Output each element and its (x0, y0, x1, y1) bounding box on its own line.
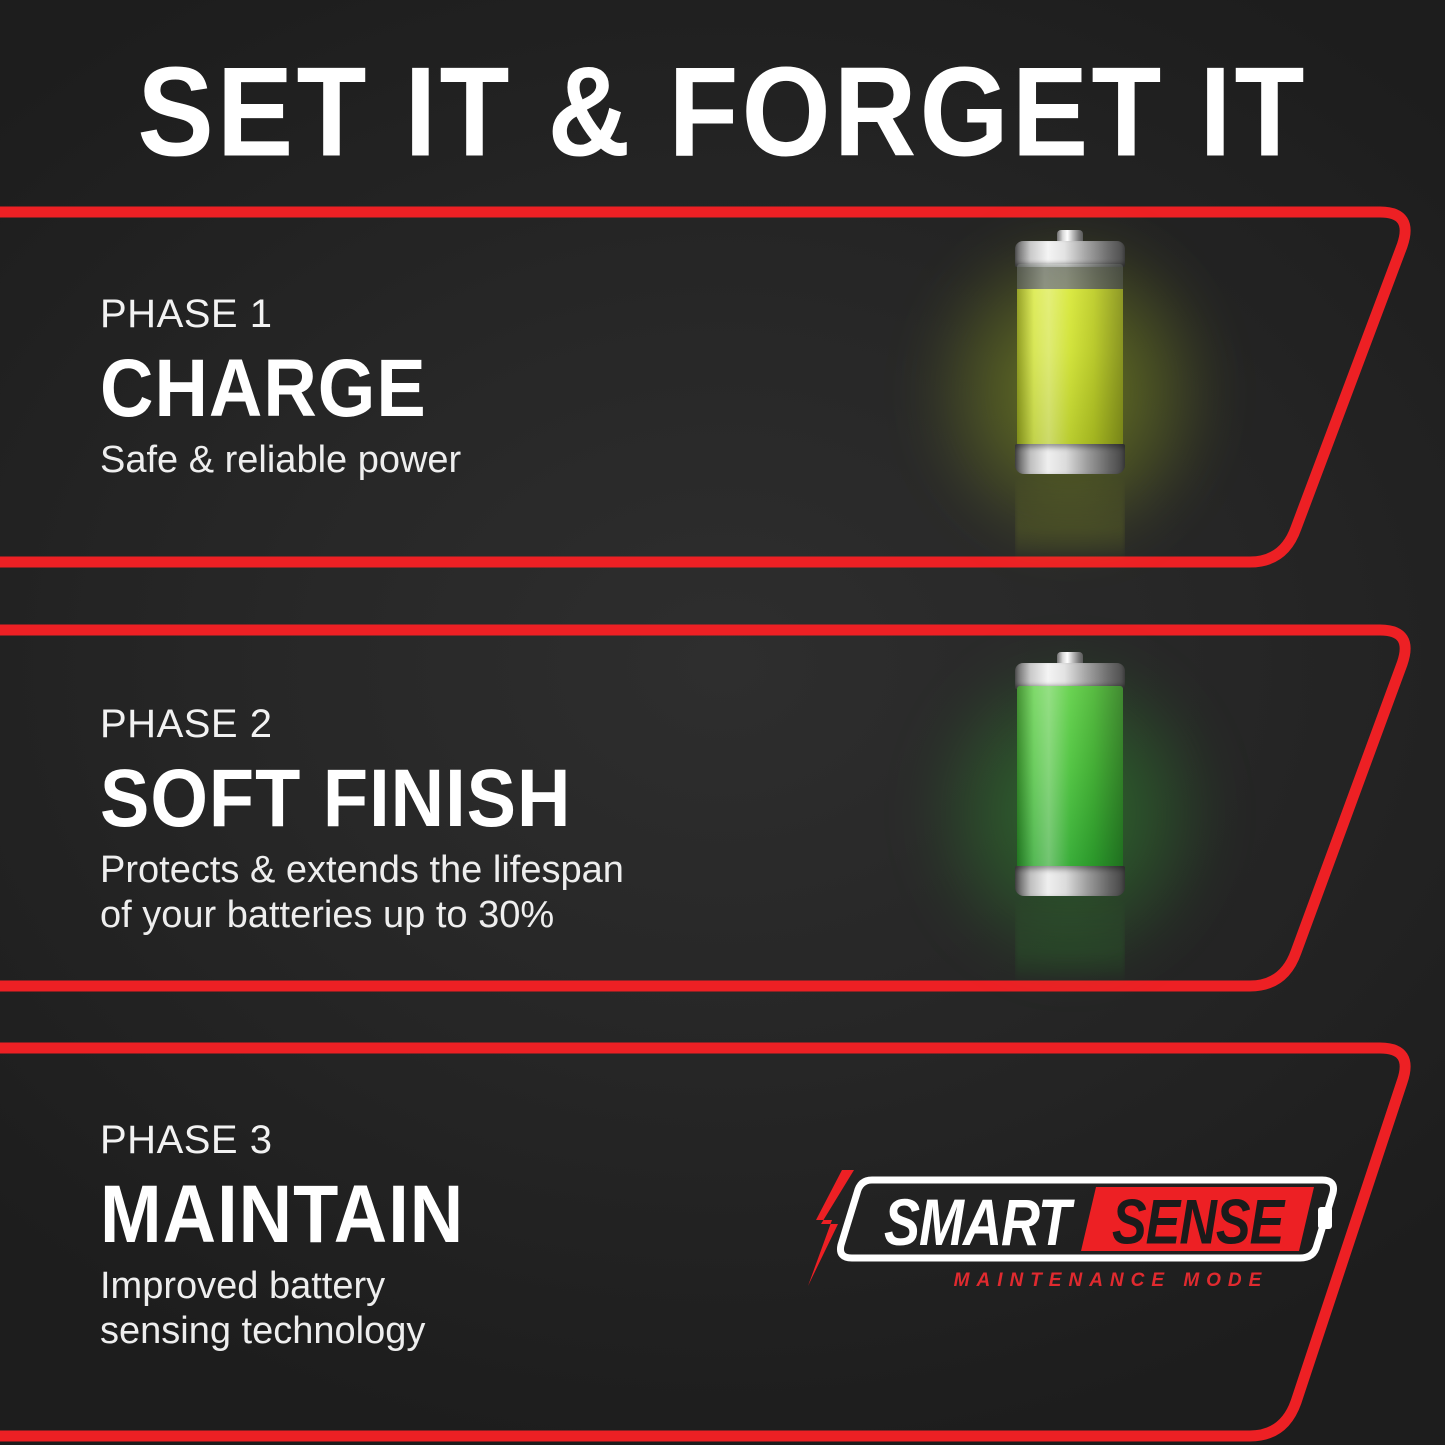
battery-empty-portion (1017, 264, 1123, 289)
battery-icon (1015, 652, 1125, 900)
phase-title: CHARGE (100, 348, 461, 429)
battery-fill (1017, 686, 1123, 868)
battery-fill (1017, 289, 1123, 446)
phase-title: SOFT FINISH (100, 758, 624, 839)
battery-graphic-1 (950, 226, 1190, 556)
logo-word-smart: SMART (884, 1190, 1070, 1256)
battery-cap-bottom (1015, 866, 1125, 896)
page-title: SET IT & FORGET IT (0, 48, 1445, 175)
phase-description: Improved battery sensing technology (100, 1264, 464, 1354)
battery-body (1017, 686, 1123, 868)
battery-icon (1015, 230, 1125, 478)
phase-panel-3: PHASE 3 MAINTAIN Improved battery sensin… (0, 1042, 1445, 1442)
battery-body (1017, 264, 1123, 446)
battery-reflection (1015, 898, 1125, 984)
phase-title: MAINTAIN (100, 1174, 464, 1255)
phase-text-1: PHASE 1 CHARGE Safe & reliable power (100, 294, 461, 483)
logo-subtitle: MAINTENANCE MODE (896, 1270, 1326, 1292)
smartsense-logo: SMART SENSE MAINTENANCE MODE (796, 1162, 1356, 1302)
phase-panel-2: PHASE 2 SOFT FINISH Protects & extends t… (0, 624, 1445, 992)
phase-label: PHASE 1 (100, 294, 461, 334)
infographic-canvas: SET IT & FORGET IT PHASE 1 CHARGE Safe &… (0, 0, 1445, 1445)
phase-panel-1: PHASE 1 CHARGE Safe & reliable power (0, 206, 1445, 568)
phase-text-3: PHASE 3 MAINTAIN Improved battery sensin… (100, 1120, 464, 1354)
phase-description: Safe & reliable power (100, 438, 461, 483)
battery-cap-bottom (1015, 444, 1125, 474)
phase-text-2: PHASE 2 SOFT FINISH Protects & extends t… (100, 704, 624, 938)
phase-label: PHASE 2 (100, 704, 624, 744)
phase-description: Protects & extends the lifespan of your … (100, 848, 624, 938)
logo-word-sense: SENSE (1112, 1191, 1283, 1254)
phase-label: PHASE 3 (100, 1120, 464, 1160)
battery-graphic-2 (950, 648, 1190, 978)
battery-reflection (1015, 476, 1125, 562)
